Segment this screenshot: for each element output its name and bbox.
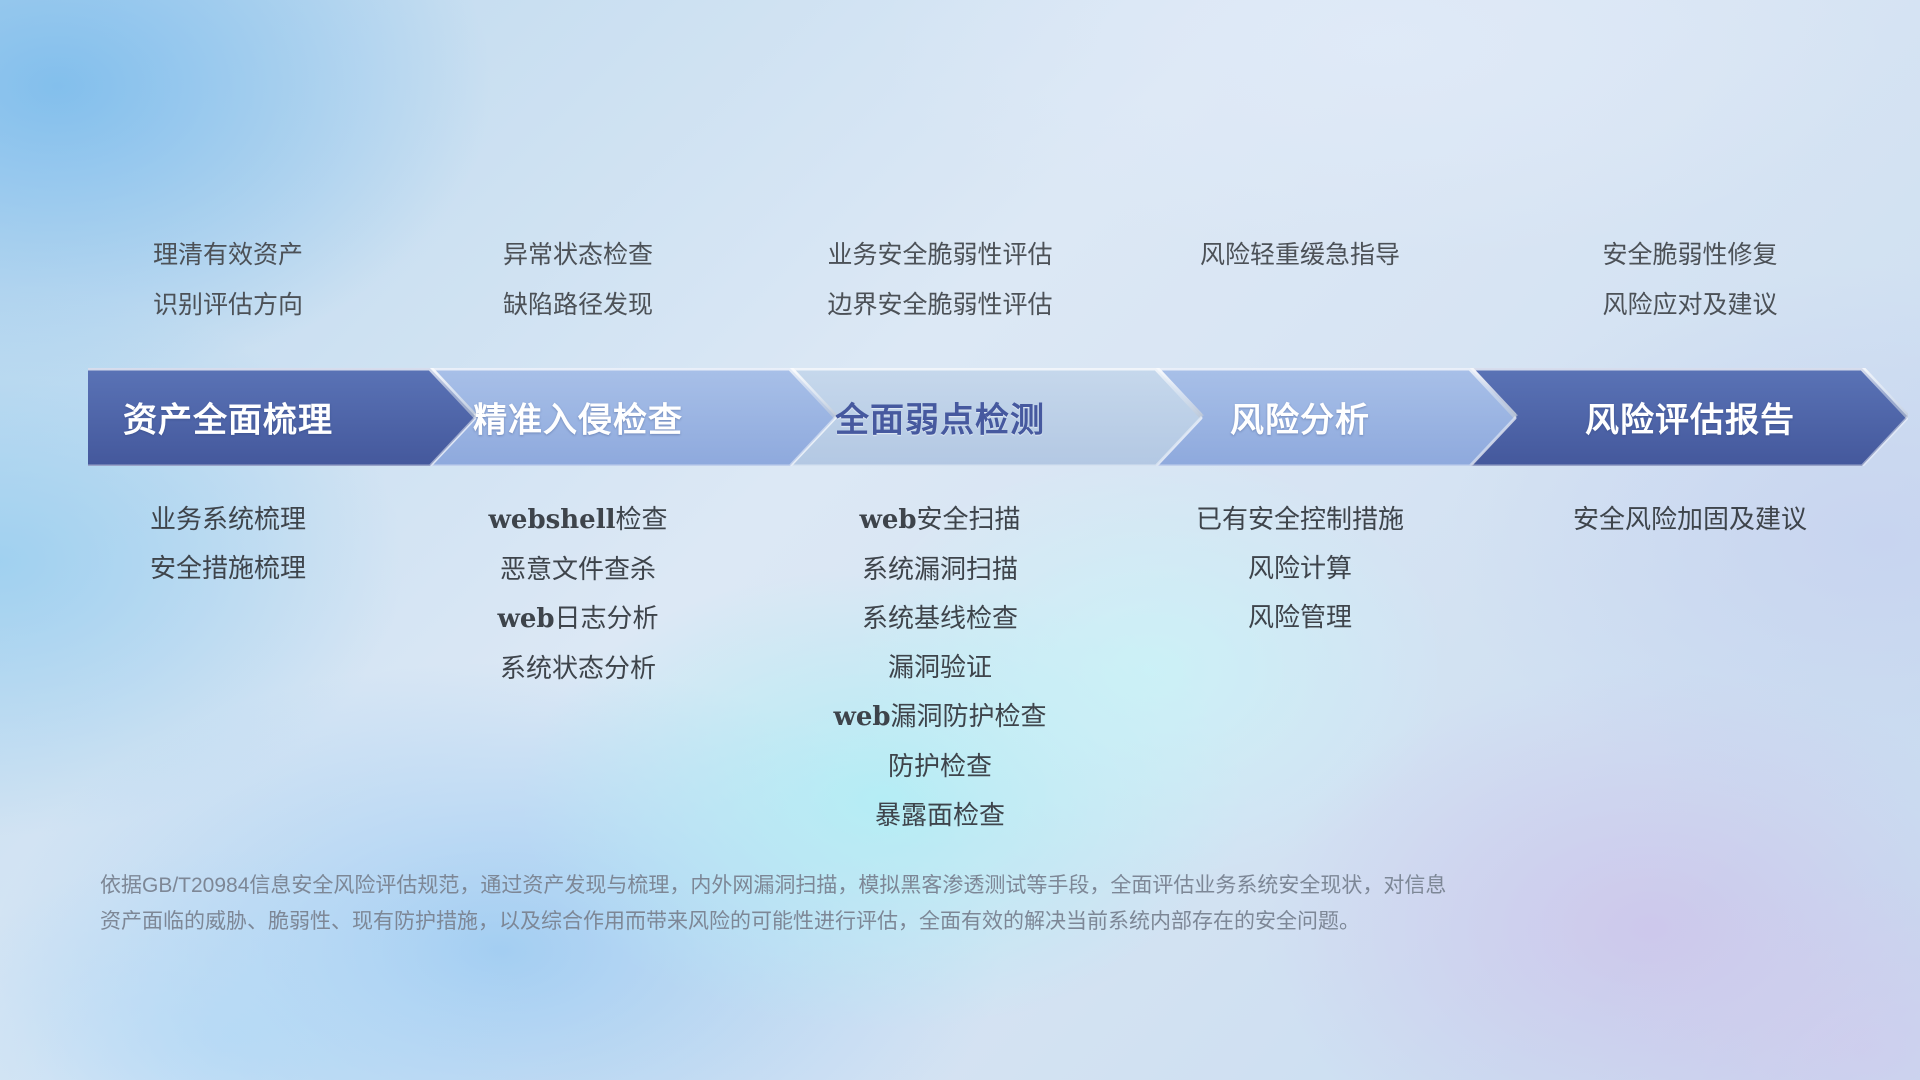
- process-step-title-risk-analysis: 风险分析: [1230, 393, 1370, 442]
- top-outcome-item: 风险应对及建议: [1390, 280, 1920, 330]
- top-outcome-item: 安全脆弱性修复: [1390, 230, 1920, 280]
- process-step-intrusion-check[interactable]: 精准入侵检查: [430, 368, 836, 466]
- bottom-activity-item: 漏洞验证: [640, 643, 1240, 692]
- process-step-risk-report[interactable]: 风险评估报告: [1470, 368, 1908, 466]
- footer-line-1: 依据GB/T20984信息安全风险评估规范，通过资产发现与梳理，内外网漏洞扫描，…: [100, 868, 1620, 904]
- bottom-activity-item: 风险管理: [1000, 593, 1600, 642]
- process-step-weakness-detection[interactable]: 全面弱点检测: [790, 368, 1202, 466]
- activity-latin-prefix: webshell: [489, 505, 616, 535]
- bottom-activity-item: web漏洞防护检查: [640, 692, 1240, 742]
- process-step-asset-inventory[interactable]: 资产全面梳理: [88, 368, 476, 466]
- footer-line-2: 资产面临的威胁、脆弱性、现有防护措施，以及综合作用而带来风险的可能性进行评估，全…: [100, 904, 1620, 940]
- process-step-title-asset-inventory: 资产全面梳理: [123, 393, 333, 442]
- top-outcome-column-risk-report: 安全脆弱性修复风险应对及建议: [1390, 230, 1920, 330]
- process-step-title-risk-report: 风险评估报告: [1585, 393, 1795, 442]
- footer-description: 依据GB/T20984信息安全风险评估规范，通过资产发现与梳理，内外网漏洞扫描，…: [100, 868, 1620, 940]
- top-outcome-item: 边界安全脆弱性评估: [640, 280, 1240, 330]
- bottom-activity-item: 防护检查: [640, 742, 1240, 791]
- activity-latin-prefix: web: [859, 505, 916, 535]
- top-outcome-labels: 理清有效资产识别评估方向异常状态检查缺陷路径发现业务安全脆弱性评估边界安全脆弱性…: [0, 230, 1920, 320]
- activity-cjk-text: 漏洞防护检查: [891, 701, 1047, 731]
- process-step-title-weakness-detection: 全面弱点检测: [835, 393, 1045, 442]
- bottom-activity-item: 风险计算: [1000, 544, 1600, 593]
- bottom-activity-item: 安全风险加固及建议: [1390, 495, 1920, 544]
- process-arrow-ribbon: 资产全面梳理 精准入侵检查: [0, 368, 1920, 466]
- process-step-title-intrusion-check: 精准入侵检查: [473, 393, 683, 442]
- bottom-activity-column-risk-report: 安全风险加固及建议: [1390, 495, 1920, 544]
- activity-latin-prefix: web: [497, 604, 554, 634]
- activity-latin-prefix: web: [833, 702, 890, 732]
- bottom-activity-item: 暴露面检查: [640, 791, 1240, 840]
- process-step-risk-analysis[interactable]: 风险分析: [1156, 368, 1516, 466]
